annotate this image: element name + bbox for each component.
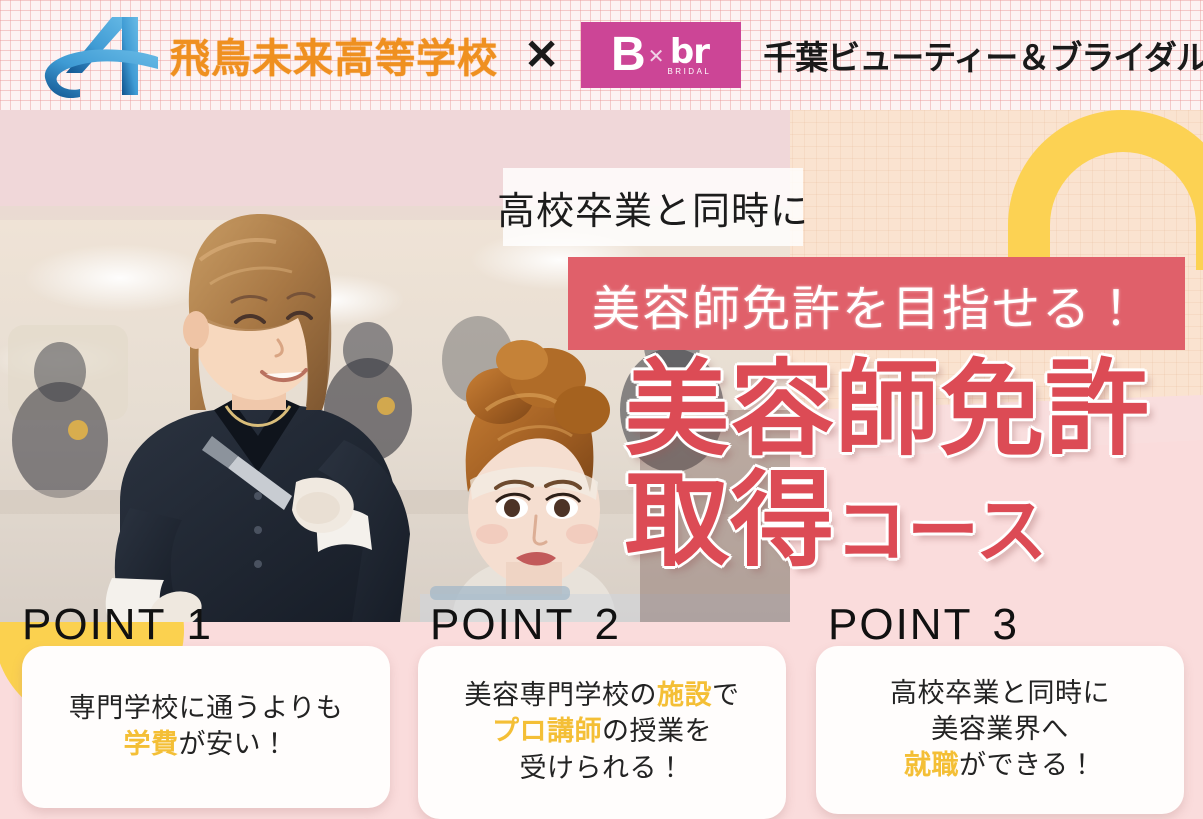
partner-logo-br: br xyxy=(670,38,709,67)
partner-logo: B ✕ br BRIDAL xyxy=(581,22,741,88)
point-card-3: 高校卒業と同時に美容業界へ就職ができる！ xyxy=(816,646,1184,814)
point-text-line: 美容専門学校の施設で xyxy=(465,678,740,714)
point-text-plain: 高校卒業と同時に xyxy=(890,678,1110,709)
banner-stage: 高校卒業と同時に 美容師免許を目指せる！ 美容師免許 取得コース POINT1 … xyxy=(0,110,1203,819)
point-text-plain: 受けられる！ xyxy=(520,753,685,784)
promo-banner: 飛鳥未来高等学校 ✕ B ✕ br BRIDAL 千葉ビューティー＆ブライダル専… xyxy=(0,0,1203,819)
point-text-line: 学費が安い！ xyxy=(69,727,343,763)
point-label-2: POINT2 xyxy=(430,600,621,650)
point-label-3-text: POINT xyxy=(828,600,972,649)
point-card-2-lines: 美容専門学校の施設でプロ講師の授業を受けられる！ xyxy=(465,678,740,787)
partner-logo-x-icon: ✕ xyxy=(648,47,665,67)
course-title-line2-small: コース xyxy=(835,489,1047,573)
point-text-plain: 美容業界へ xyxy=(931,714,1069,745)
cross-icon: ✕ xyxy=(524,34,559,76)
point-text-highlight: 学費 xyxy=(124,729,179,760)
point-text-line: 高校卒業と同時に xyxy=(890,676,1110,712)
point-text-plain: が安い！ xyxy=(179,729,289,760)
course-title-line1: 美容師免許 xyxy=(625,358,1150,461)
point-text-highlight: プロ講師 xyxy=(492,716,602,747)
point-text-plain: 美容専門学校の xyxy=(465,680,658,711)
kicker-band: 高校卒業と同時に xyxy=(503,168,803,246)
point-text-line: 専門学校に通うよりも xyxy=(69,691,343,727)
subhead-text: 美容師免許を目指せる！ xyxy=(592,269,1142,339)
partner-school-name: 千葉ビューティー＆ブライダル専門学校 xyxy=(763,31,1203,79)
point-card-1: 専門学校に通うよりも学費が安い！ xyxy=(22,646,390,808)
point-label-2-number: 2 xyxy=(594,600,620,649)
point-text-plain: の授業を xyxy=(602,716,712,747)
point-label-2-text: POINT xyxy=(430,600,574,649)
point-text-highlight: 施設 xyxy=(657,680,712,711)
point-text-plain: で xyxy=(712,680,740,711)
school-name: 飛鳥未来高等学校 xyxy=(170,26,498,84)
point-label-1: POINT1 xyxy=(22,600,213,650)
point-label-1-text: POINT xyxy=(22,600,166,649)
point-label-3-number: 3 xyxy=(992,600,1018,649)
point-card-2: 美容専門学校の施設でプロ講師の授業を受けられる！ xyxy=(418,646,786,819)
point-card-3-lines: 高校卒業と同時に美容業界へ就職ができる！ xyxy=(890,676,1110,785)
point-text-plain: 専門学校に通うよりも xyxy=(69,693,343,724)
point-text-plain: ができる！ xyxy=(959,750,1096,781)
point-label-1-number: 1 xyxy=(186,600,212,649)
point-text-highlight: 就職 xyxy=(904,750,959,781)
banner-header: 飛鳥未来高等学校 ✕ B ✕ br BRIDAL 千葉ビューティー＆ブライダル専… xyxy=(0,0,1203,110)
point-text-line: 就職ができる！ xyxy=(890,748,1110,784)
asuka-a-swoosh-logo xyxy=(36,11,166,99)
course-title: 美容師免許 取得コース xyxy=(625,358,1150,572)
point-text-line: 受けられる！ xyxy=(465,751,740,787)
partner-logo-sub: BRIDAL xyxy=(667,68,711,76)
point-label-3: POINT3 xyxy=(828,600,1019,650)
partner-logo-b: B xyxy=(611,31,646,79)
subhead-band: 美容師免許を目指せる！ xyxy=(568,257,1185,350)
course-title-line2-main: 取得 xyxy=(625,459,835,581)
kicker-text: 高校卒業と同時に xyxy=(497,180,809,235)
point-text-line: プロ講師の授業を xyxy=(465,714,740,750)
point-card-1-lines: 専門学校に通うよりも学費が安い！ xyxy=(69,691,343,763)
point-text-line: 美容業界へ xyxy=(890,712,1110,748)
